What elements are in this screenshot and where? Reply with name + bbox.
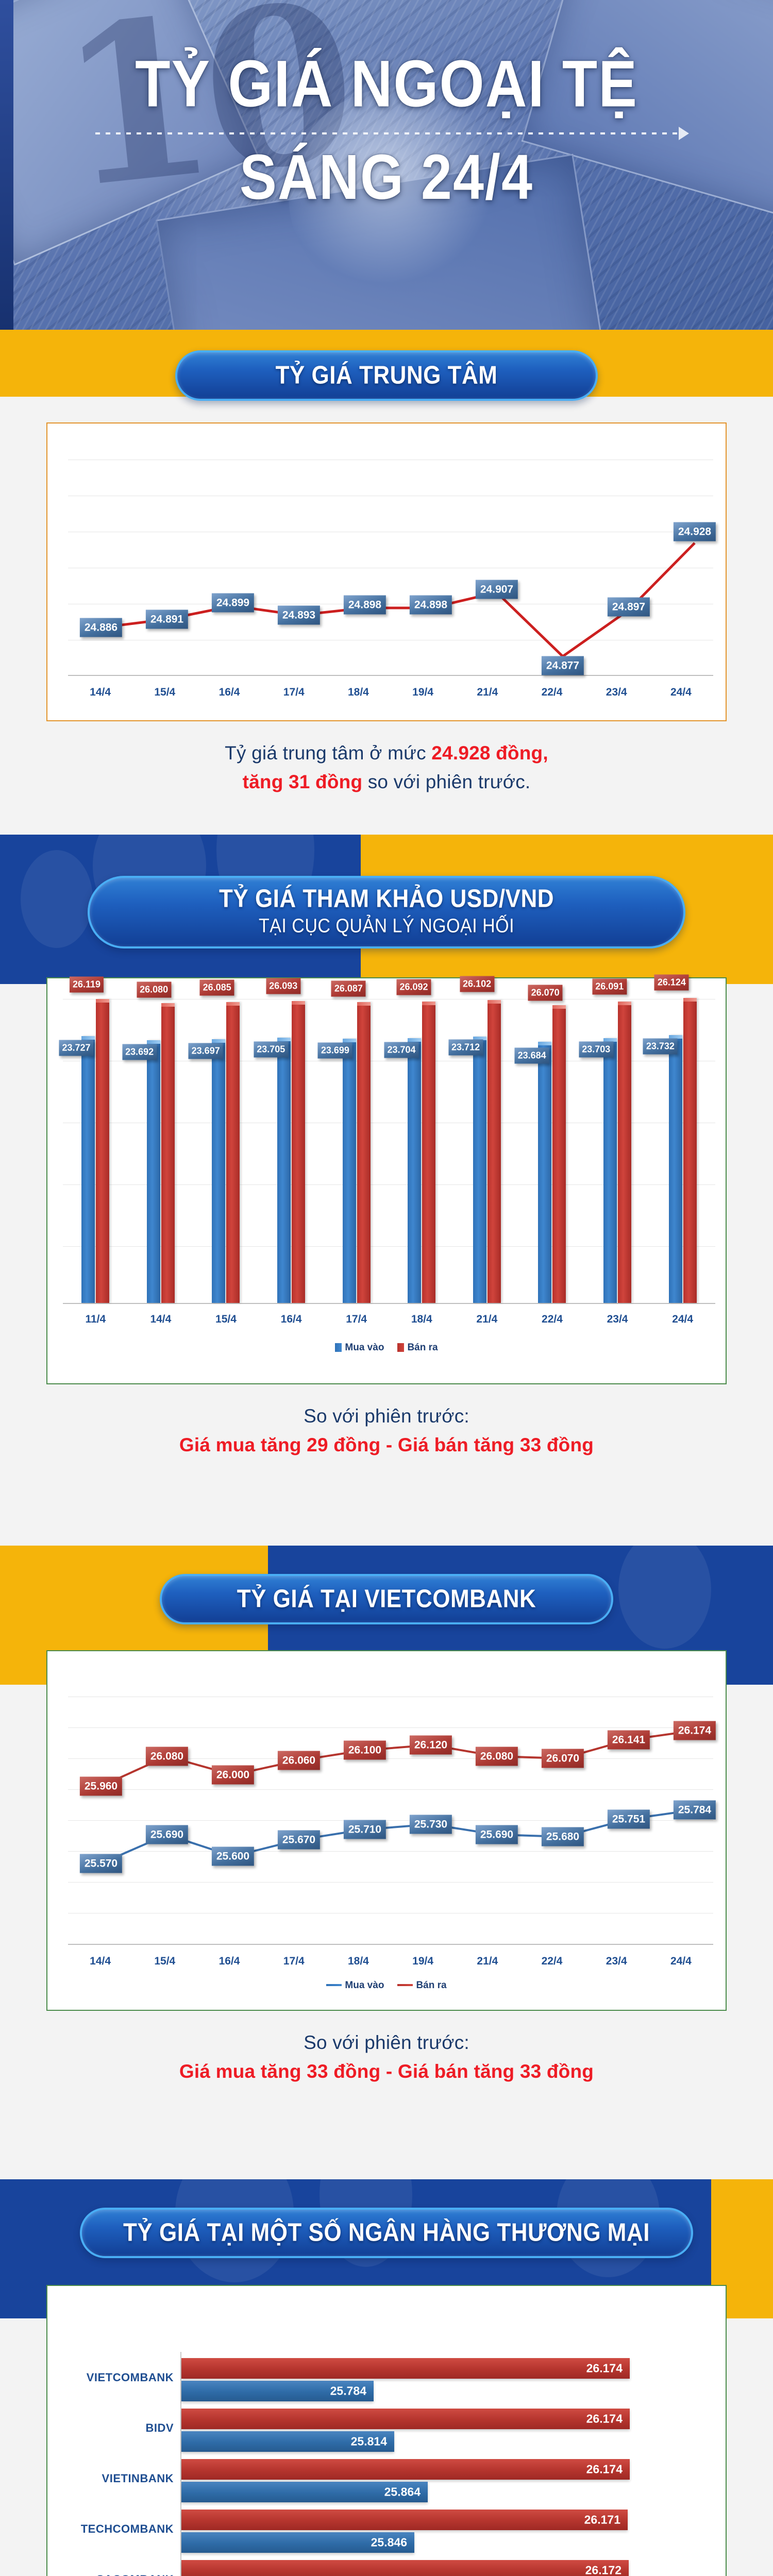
x-tick: 14/4 — [128, 1313, 194, 1326]
bar-label-buy: 23.732 — [643, 1039, 678, 1055]
hbar-sell: 26.171 — [181, 2510, 628, 2530]
section-title-vietcombank: TỶ GIÁ TẠI VIETCOMBANK — [160, 1574, 613, 1624]
caption-central-rate: Tỷ giá trung tâm ở mức 24.928 đồng, tăng… — [0, 739, 773, 796]
section-vietcombank: TỶ GIÁ TẠI VIETCOMBANK 25.960 26.080 — [0, 1574, 773, 2086]
caption-forex-dept: So với phiên trước: Giá mua tăng 29 đồng… — [0, 1402, 773, 1460]
data-point-label-buy: 25.751 — [608, 1810, 650, 1829]
bar-label-buy: 23.697 — [189, 1043, 223, 1059]
legend-label: Mua vào — [345, 1342, 384, 1353]
bar-label-sell: 26.093 — [266, 978, 300, 994]
x-axis-labels: 11/4 14/4 15/4 16/4 17/4 18/4 21/4 22/4 … — [63, 1313, 715, 1326]
x-tick: 18/4 — [389, 1313, 455, 1326]
bar-sell — [226, 1002, 240, 1303]
bar-label-buy: 23.703 — [579, 1042, 613, 1058]
section-central-rate: TỶ GIÁ TRUNG TÂM 24.886 24.891 24.899 24… — [0, 350, 773, 796]
hero-banner: 10 TỶ GIÁ NGOẠI TỆ SÁNG 24/4 — [0, 0, 773, 330]
hbar-value: 26.174 — [586, 2412, 623, 2426]
data-point-label-buy: 25.730 — [410, 1815, 452, 1834]
bar-buy — [603, 1038, 617, 1303]
chart-legend: Mua vào Bán ra — [47, 1342, 726, 1353]
bar-buy — [81, 1036, 95, 1303]
bar-group: 23.704 26.092 — [389, 999, 455, 1303]
hbar-sell: 26.174 — [181, 2358, 630, 2379]
bar-sell — [618, 1002, 631, 1303]
hbar-value: 26.174 — [586, 2362, 623, 2376]
legend-item-buy: Mua vào — [335, 1342, 384, 1353]
bar-buy — [538, 1042, 551, 1303]
hbar-value: 25.784 — [330, 2384, 366, 2398]
x-tick: 11/4 — [63, 1313, 128, 1326]
x-tick: 16/4 — [259, 1313, 324, 1326]
legend-swatch-blue-icon — [335, 1343, 342, 1352]
bar-label-buy: 23.692 — [122, 1044, 157, 1060]
section-title-commercial-banks: TỶ GIÁ TẠI MỘT SỐ NGÂN HÀNG THƯƠNG MẠI — [80, 2208, 693, 2258]
data-point-label: 24.886 — [80, 618, 122, 637]
hero-title-line2: SÁNG 24/4 — [0, 144, 773, 211]
data-point-label-sell: 26.080 — [146, 1747, 188, 1766]
hbar-buy: 25.814 — [181, 2431, 394, 2452]
bar-label-buy: 23.712 — [448, 1040, 483, 1056]
data-point-label-buy: 25.710 — [344, 1820, 386, 1839]
caption-highlight: tăng 31 đồng — [243, 771, 363, 792]
bar-group: 23.699 26.087 — [324, 999, 389, 1303]
x-tick: 24/4 — [650, 1313, 715, 1326]
section-title-text: TỶ GIÁ TẠI VIETCOMBANK — [193, 1585, 580, 1614]
bar-sell — [292, 1001, 305, 1303]
bar-label-sell: 26.087 — [331, 981, 366, 997]
chart-forex-dept: 23.727 26.119 23.692 26.080 23.697 26.08… — [46, 977, 727, 1384]
legend-swatch-red-icon — [397, 1343, 404, 1352]
section-forex-dept: TỶ GIÁ THAM KHẢO USD/VND TẠI CỤC QUẢN LÝ… — [0, 876, 773, 1460]
line-chart-central-rate: 24.886 24.891 24.899 24.893 24.898 24.89… — [47, 423, 726, 720]
bar-label-buy: 23.705 — [254, 1042, 288, 1058]
data-point-label-sell: 26.080 — [476, 1747, 518, 1766]
bar-sell — [161, 1003, 175, 1303]
bar-group: 23.732 26.124 — [650, 999, 715, 1303]
bar-label-buy: 23.699 — [318, 1043, 352, 1059]
bar-label-buy: 23.704 — [384, 1042, 418, 1058]
hbar-value: 26.172 — [585, 2564, 621, 2576]
bar-label-sell: 26.102 — [460, 976, 494, 992]
hero-divider-arrow-icon — [95, 132, 678, 134]
bar-sell — [422, 1002, 435, 1303]
bar-buy — [212, 1039, 225, 1303]
bar-group: 23.703 26.091 — [585, 999, 650, 1303]
data-point-label-sell: 26.141 — [608, 1731, 650, 1750]
data-point-label: 24.893 — [278, 606, 320, 625]
hbar-chart: VIETCOMBANK 26.174 25.784 BIDV 26.174 25… — [47, 2286, 726, 2576]
bar-buy — [147, 1040, 160, 1303]
bar-group: 23.697 26.085 — [193, 999, 259, 1303]
data-point-label-buy: 25.670 — [278, 1831, 320, 1850]
bar-label-sell: 26.092 — [396, 979, 431, 995]
bar-label-sell: 26.119 — [70, 977, 104, 993]
data-point-label-sell: 26.174 — [674, 1721, 716, 1740]
central-rate-polyline — [47, 423, 728, 722]
infographic-page: 10 TỶ GIÁ NGOẠI TỆ SÁNG 24/4 TỶ GIÁ TRUN… — [0, 0, 773, 2576]
hbar-sell: 26.172 — [181, 2560, 629, 2576]
bar-groups: 23.727 26.119 23.692 26.080 23.697 26.08… — [63, 999, 715, 1303]
x-tick: 21/4 — [455, 1313, 520, 1326]
data-point-label-buy: 25.690 — [476, 1825, 518, 1844]
caption-text: so với phiên trước. — [362, 771, 530, 792]
x-tick: 15/4 — [193, 1313, 259, 1326]
bar-group: 23.712 26.102 — [455, 999, 520, 1303]
x-tick: 17/4 — [324, 1313, 389, 1326]
caption-text: Tỷ giá trung tâm ở mức — [225, 742, 431, 764]
data-point-label: 24.928 — [674, 522, 716, 541]
bar-label-buy: 23.684 — [515, 1048, 549, 1064]
x-axis-line — [63, 1303, 715, 1304]
caption-line-2: Giá mua tăng 33 đồng - Giá bán tăng 33 đ… — [0, 2057, 773, 2086]
bar-label-buy: 23.727 — [59, 1040, 93, 1056]
data-point-label-sell: 26.070 — [542, 1749, 584, 1768]
bar-buy — [408, 1038, 421, 1303]
data-point-label-sell: 26.120 — [410, 1736, 452, 1755]
hero-title-line1: TỶ GIÁ NGOẠI TỆ — [0, 49, 773, 119]
line-chart-vietcombank: 25.960 26.080 26.000 26.060 26.100 26.12… — [47, 1651, 726, 2010]
bar-buy — [343, 1039, 356, 1303]
bar-sell — [96, 999, 109, 1303]
bar-group: 23.684 26.070 — [519, 999, 585, 1303]
caption-vietcombank: So với phiên trước: Giá mua tăng 33 đồng… — [0, 2028, 773, 2086]
hbar-value: 26.171 — [584, 2513, 620, 2527]
data-point-label-buy: 25.600 — [212, 1847, 254, 1866]
data-point-label: 24.877 — [542, 656, 584, 675]
chart-commercial-banks: VIETCOMBANK 26.174 25.784 BIDV 26.174 25… — [46, 2285, 727, 2576]
legend-label: Bán ra — [407, 1342, 438, 1353]
hbar-buy: 25.784 — [181, 2381, 374, 2401]
section-title-text: TỶ GIÁ TẠI MỘT SỐ NGÂN HÀNG THƯƠNG MẠI — [113, 2218, 660, 2247]
caption-line-1: So với phiên trước: — [0, 1402, 773, 1431]
section-title-central-rate: TỶ GIÁ TRUNG TÂM — [175, 350, 598, 401]
data-point-label: 24.898 — [344, 596, 386, 615]
data-point-label: 24.898 — [410, 596, 452, 615]
hbar-value: 26.174 — [586, 2463, 623, 2477]
hbar-value: 25.864 — [384, 2485, 421, 2499]
data-point-label: 24.899 — [212, 594, 254, 613]
data-point-label-buy: 25.784 — [674, 1801, 716, 1820]
section-title-text: TỶ GIÁ TRUNG TÂM — [208, 361, 565, 390]
bar-group: 23.727 26.119 — [63, 999, 128, 1303]
bar-label-sell: 26.080 — [137, 982, 171, 998]
hbar-buy: 25.846 — [181, 2532, 414, 2553]
bank-label: TECHCOMBANK — [68, 2522, 174, 2536]
hbar-value: 25.846 — [371, 2536, 407, 2550]
bar-chart-forex-dept: 23.727 26.119 23.692 26.080 23.697 26.08… — [47, 978, 726, 1383]
bar-group: 23.705 26.093 — [259, 999, 324, 1303]
bar-label-sell: 26.070 — [528, 985, 563, 1001]
section-title-text-line1: TỶ GIÁ THAM KHẢO USD/VND — [115, 885, 658, 913]
caption-line-1: So với phiên trước: — [0, 2028, 773, 2057]
data-point-label-sell: 25.960 — [80, 1777, 122, 1796]
x-tick: 23/4 — [585, 1313, 650, 1326]
hbar-buy: 25.864 — [181, 2482, 428, 2502]
chart-vietcombank: 25.960 26.080 26.000 26.060 26.100 26.12… — [46, 1650, 727, 2011]
legend-item-sell: Bán ra — [397, 1342, 438, 1353]
bar-group: 23.692 26.080 — [128, 999, 194, 1303]
hbar-sell: 26.174 — [181, 2409, 630, 2429]
data-point-label: 24.907 — [476, 580, 518, 599]
caption-line-1: Tỷ giá trung tâm ở mức 24.928 đồng, — [0, 739, 773, 768]
section-title-forex-dept: TỶ GIÁ THAM KHẢO USD/VND TẠI CỤC QUẢN LÝ… — [88, 876, 685, 948]
bar-sell — [357, 1002, 371, 1303]
bar-label-sell: 26.085 — [200, 980, 234, 996]
data-point-label: 24.897 — [608, 598, 650, 617]
bank-label: SACOMBANK — [68, 2573, 174, 2576]
x-tick: 22/4 — [519, 1313, 585, 1326]
hero-title-wrap: TỶ GIÁ NGOẠI TỆ SÁNG 24/4 — [0, 54, 773, 207]
bar-sell — [488, 1000, 501, 1303]
bank-label: VIETINBANK — [68, 2472, 174, 2485]
data-point-label: 24.891 — [146, 610, 188, 629]
caption-line-2: tăng 31 đồng so với phiên trước. — [0, 768, 773, 796]
data-point-label-sell: 26.000 — [212, 1766, 254, 1785]
caption-line-2: Giá mua tăng 29 đồng - Giá bán tăng 33 đ… — [0, 1431, 773, 1460]
bar-sell — [683, 998, 697, 1303]
bar-sell — [552, 1005, 566, 1303]
data-point-label-sell: 26.100 — [344, 1741, 386, 1760]
bank-label: VIETCOMBANK — [68, 2371, 174, 2384]
data-point-label-buy: 25.690 — [146, 1825, 188, 1844]
data-point-label-sell: 26.060 — [278, 1751, 320, 1770]
bar-label-sell: 26.124 — [654, 975, 689, 991]
chart-central-rate: 24.886 24.891 24.899 24.893 24.898 24.89… — [46, 422, 727, 721]
bar-buy — [473, 1037, 486, 1303]
section-commercial-banks: TỶ GIÁ TẠI MỘT SỐ NGÂN HÀNG THƯƠNG MẠI V… — [0, 2208, 773, 2576]
bar-buy — [669, 1035, 682, 1303]
hbar-sell: 26.174 — [181, 2459, 630, 2480]
section-title-text-line2: TẠI CỤC QUẢN LÝ NGOẠI HỐI — [115, 915, 658, 938]
data-point-label-buy: 25.680 — [542, 1827, 584, 1846]
data-point-label-buy: 25.570 — [80, 1854, 122, 1873]
bar-label-sell: 26.091 — [592, 979, 627, 995]
bar-buy — [277, 1038, 291, 1303]
bank-label: BIDV — [68, 2421, 174, 2435]
caption-highlight: 24.928 đồng, — [431, 742, 548, 764]
hbar-value: 25.814 — [351, 2435, 387, 2449]
